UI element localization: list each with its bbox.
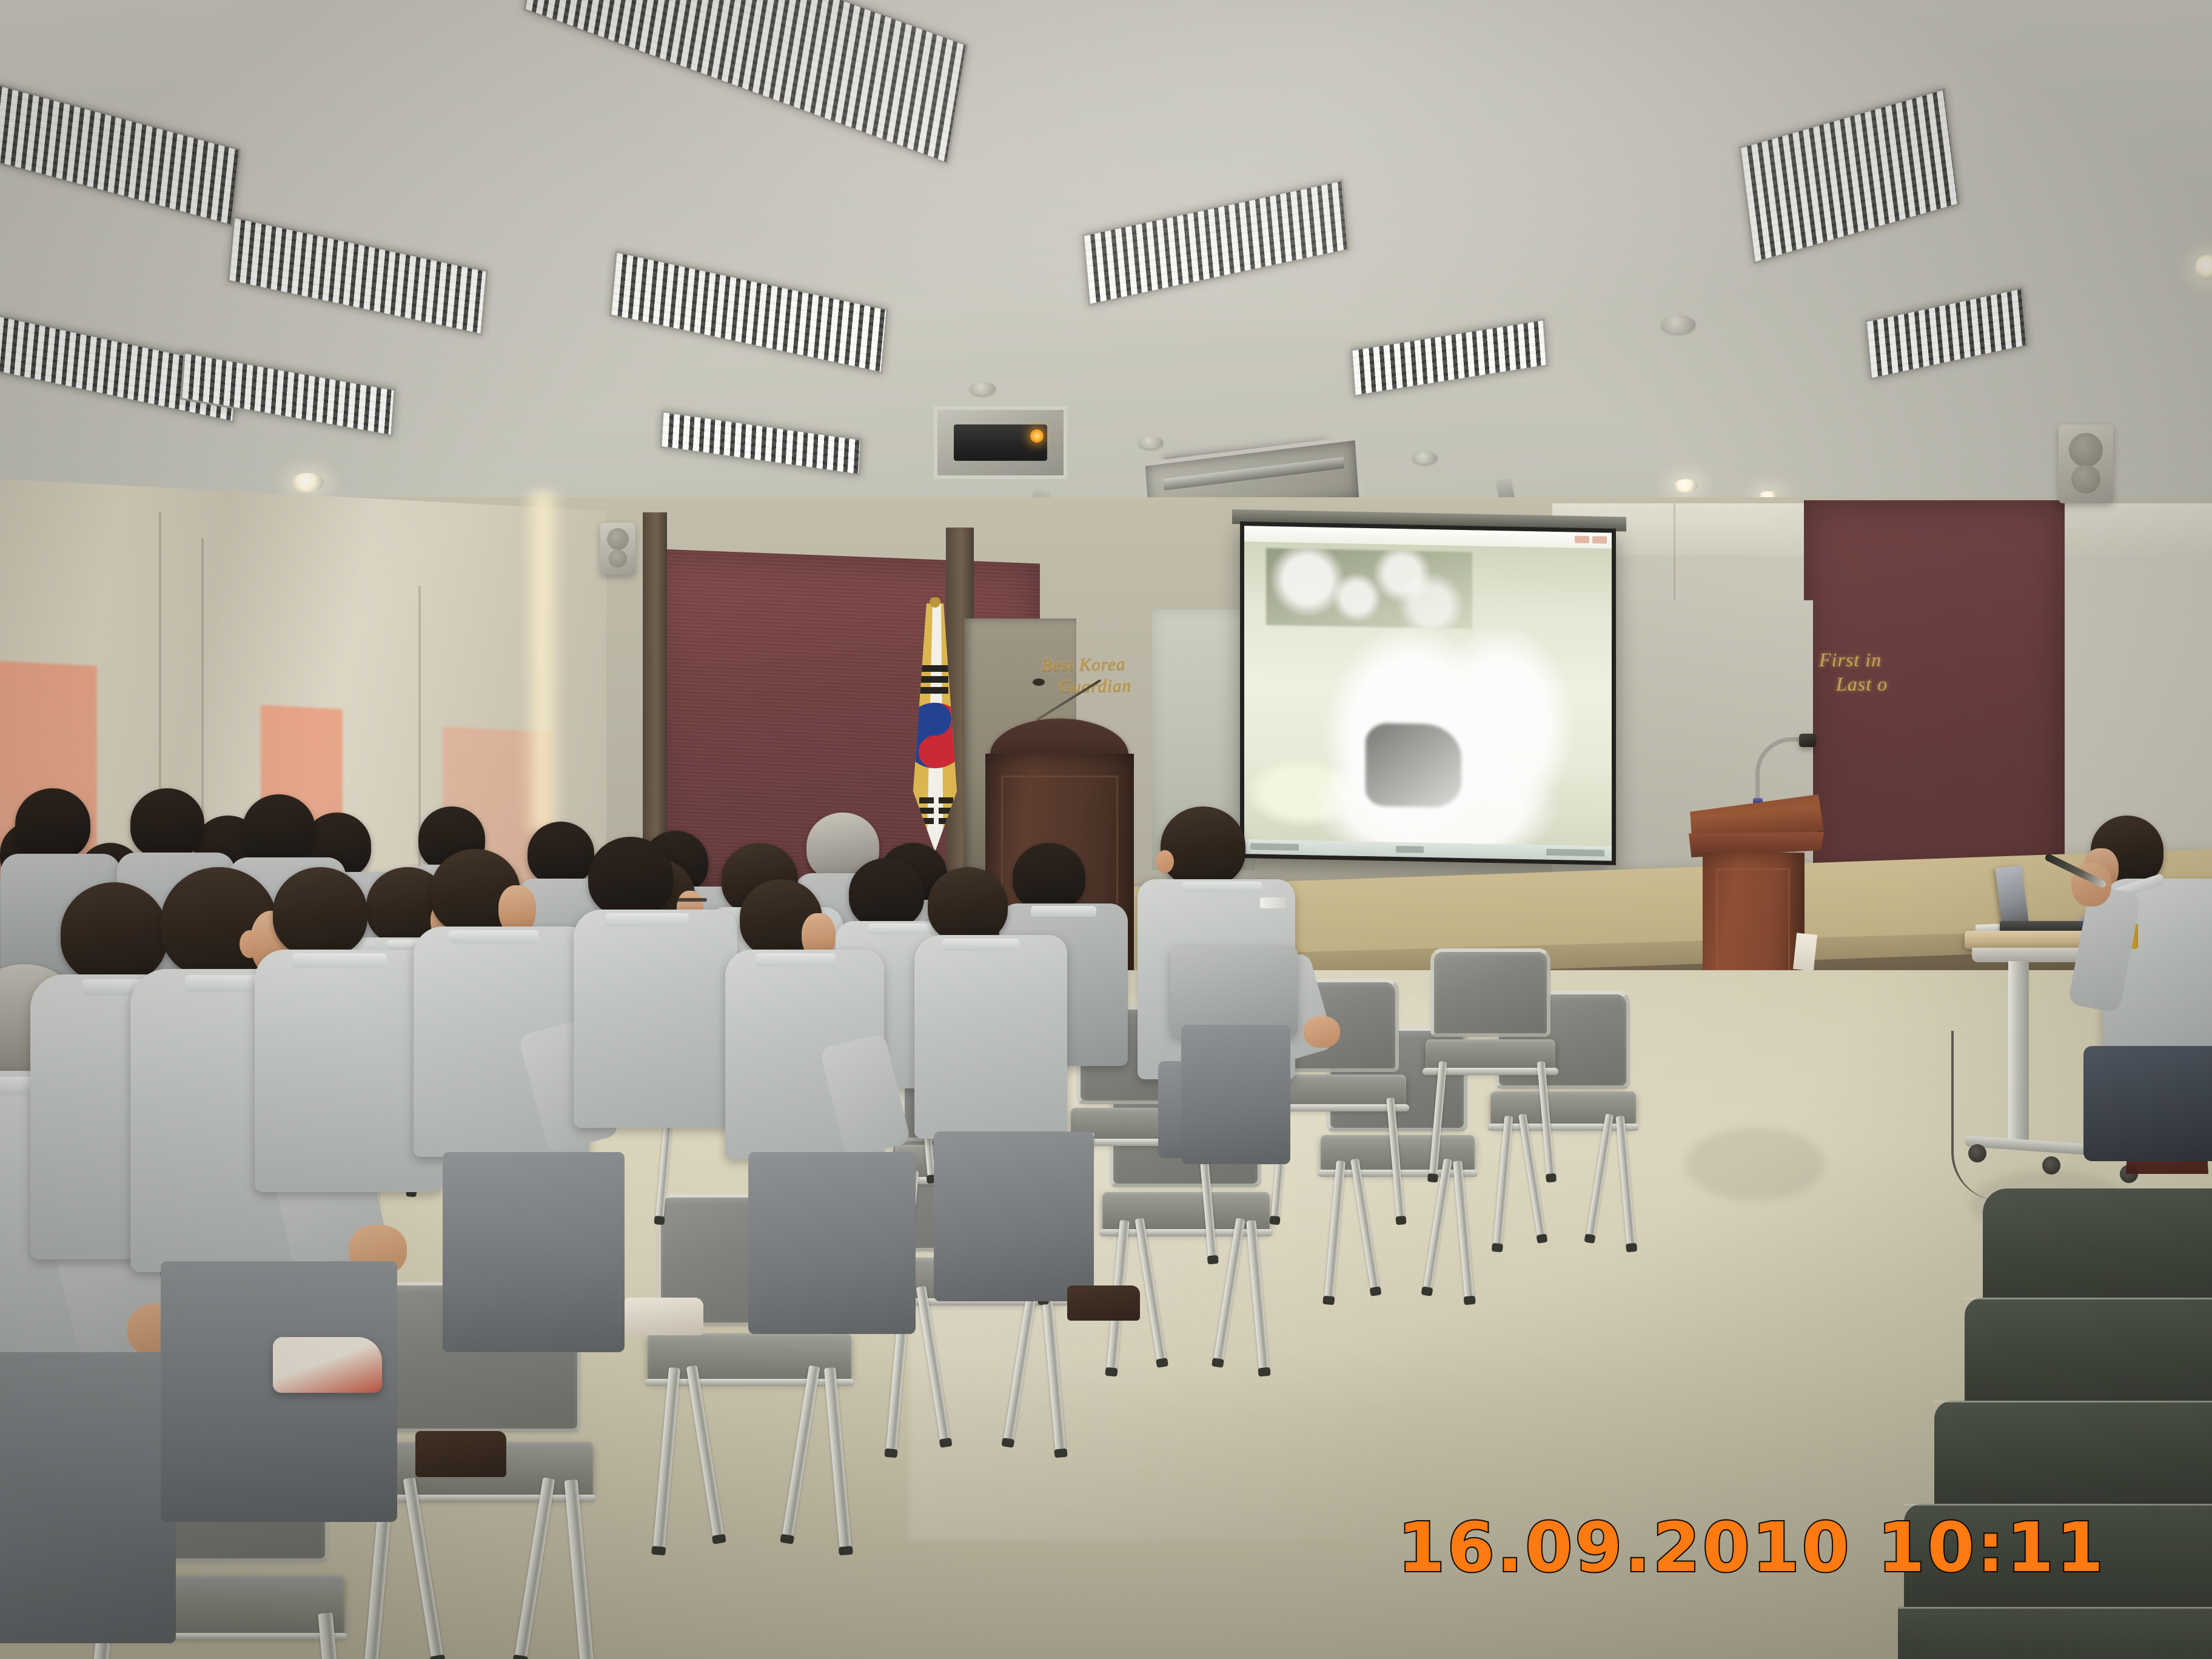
microphone-head <box>1799 734 1816 747</box>
cart-caster <box>1968 1144 1986 1162</box>
recessed-fluorescent-troffer <box>609 250 888 374</box>
light-louver-grid <box>1867 289 2026 378</box>
wall-speaker <box>2059 424 2113 503</box>
head <box>849 858 924 928</box>
trousers <box>0 1352 176 1643</box>
shirt-collar <box>1031 906 1096 917</box>
shirt-collar <box>756 953 836 967</box>
ear <box>240 930 260 958</box>
projector-body <box>954 424 1047 461</box>
ceiling-projector-in-cage <box>934 406 1067 479</box>
hand <box>1304 1016 1340 1048</box>
chair-leg <box>1429 1061 1447 1176</box>
close-icon[interactable] <box>1592 536 1607 543</box>
speaker-driver <box>607 528 629 550</box>
light-louver-grid <box>1166 442 1326 484</box>
projection-screen[interactable] <box>1240 521 1616 865</box>
shoe <box>415 1431 506 1477</box>
chair-leg <box>403 1477 444 1658</box>
minimize-icon[interactable] <box>1575 536 1589 543</box>
light-louver-grid <box>662 412 860 474</box>
ear <box>1156 850 1174 873</box>
smoke-detector <box>1413 452 1437 464</box>
camera-datestamp: 16.09.2010 10:11 <box>1398 1509 2106 1587</box>
light-louver-grid <box>229 218 486 333</box>
smoke-detector <box>1661 315 1695 333</box>
shirt-collar <box>1182 882 1262 893</box>
stair-tread <box>1983 1188 2212 1304</box>
speaker-driver <box>2069 433 2103 467</box>
lectern-microphone[interactable] <box>1755 736 1834 800</box>
window-controls[interactable] <box>1575 536 1607 544</box>
light-louver-grid <box>526 0 966 162</box>
head <box>243 794 315 863</box>
chair-back <box>1434 952 1547 1033</box>
chair-leg <box>515 1477 555 1658</box>
chair-leg <box>1386 1098 1404 1219</box>
wall-speaker <box>600 523 635 575</box>
stair-tread <box>1934 1401 2212 1510</box>
projector-cage-frame <box>934 406 1067 479</box>
light-louver-grid <box>1084 181 1347 304</box>
recessed-fluorescent-troffer <box>0 79 241 227</box>
auditorium-photograph: Best Korea Guardian First in Last o <box>0 0 2212 1659</box>
trousers <box>748 1152 916 1334</box>
chair-leg <box>782 1365 820 1538</box>
head <box>130 788 204 859</box>
wall-motto-right-line1: First in <box>1819 649 1882 671</box>
recessed-fluorescent-troffer <box>1739 88 1960 264</box>
recessed-fluorescent-troffer <box>1082 179 1349 306</box>
torso <box>914 935 1067 1139</box>
shirt-collar <box>292 953 387 968</box>
wall-wash-light <box>521 491 564 831</box>
floor-reflection <box>1686 1128 1825 1201</box>
chair-leg <box>1041 1288 1065 1452</box>
light-louver-grid <box>1741 90 1958 262</box>
taskbar-item[interactable] <box>1250 843 1299 851</box>
speaker-driver <box>2071 464 2100 494</box>
recessed-fluorescent-troffer <box>523 0 968 164</box>
wall-motto-right: First in Last o <box>1819 648 1888 696</box>
projected-video-frame <box>1244 541 1612 846</box>
stair-nosing <box>1904 1504 2212 1506</box>
recessed-fluorescent-troffer <box>1350 318 1548 397</box>
head <box>928 867 1008 942</box>
gooseneck-mic-arm <box>1755 737 1803 800</box>
shirt-collar <box>868 923 935 934</box>
wall-motto-right-line2: Last o <box>1836 672 1888 696</box>
chair-leg <box>1616 1116 1636 1246</box>
eyeglasses <box>674 898 707 902</box>
chair-leg <box>916 1285 950 1441</box>
head <box>588 837 673 917</box>
stair-nosing <box>1934 1401 2212 1403</box>
recessed-fluorescent-troffer <box>660 411 862 476</box>
light-louver-grid <box>0 317 237 421</box>
wall-motto-left-line1: Best Korea <box>1041 654 1125 675</box>
light-louver-grid <box>1352 321 1546 395</box>
ceiling <box>0 0 2212 546</box>
chair-leg <box>1246 1220 1269 1370</box>
shoe <box>1067 1285 1140 1321</box>
chair-leg <box>686 1365 725 1538</box>
recessed-fluorescent-troffer <box>227 216 488 335</box>
chair-leg <box>1586 1113 1614 1238</box>
stair-nosing <box>1965 1298 2212 1299</box>
smoke-detector <box>1139 437 1163 449</box>
speaker-driver <box>609 549 627 568</box>
paper-note <box>1793 933 1817 971</box>
chair-leg <box>565 1480 594 1659</box>
head <box>273 867 367 957</box>
downlight <box>2195 255 2212 280</box>
korean-flag <box>868 597 1002 888</box>
light-louver-grid <box>0 81 239 224</box>
trousers <box>443 1152 625 1352</box>
shirt-collar <box>449 930 538 943</box>
head <box>15 788 90 860</box>
stair-nosing <box>1898 1607 2212 1609</box>
cart-column <box>2008 961 2029 1143</box>
microphone-head <box>1033 679 1045 686</box>
folding-chair[interactable] <box>1422 952 1564 1182</box>
stair-tread <box>1898 1607 2212 1659</box>
taskbar-tray[interactable] <box>1546 849 1604 857</box>
recessed-fluorescent-troffer <box>1164 440 1328 486</box>
shirt-collar <box>942 939 1020 951</box>
projection-surface <box>1244 526 1612 861</box>
light-louver-grid <box>182 354 394 435</box>
head <box>1161 806 1245 886</box>
torso <box>574 910 737 1128</box>
smoke-detector <box>970 382 996 395</box>
projector-status-led <box>1030 429 1044 443</box>
shoe <box>625 1298 703 1335</box>
taskbar-item[interactable] <box>1396 846 1424 853</box>
trousers <box>1181 1025 1290 1164</box>
recessed-fluorescent-troffer <box>0 314 239 423</box>
downlight <box>291 473 324 492</box>
shirt-collar <box>605 913 689 927</box>
chair-leg <box>1004 1285 1037 1441</box>
light-louver-grid <box>611 253 886 372</box>
chair-leg <box>653 1367 680 1550</box>
gym-shoe-on-floor <box>273 1337 382 1393</box>
cart-caster <box>2042 1156 2060 1175</box>
head <box>61 882 167 983</box>
torso <box>1170 946 1298 1037</box>
chair-leg <box>1537 1061 1555 1176</box>
stair-tread <box>1965 1298 2212 1407</box>
uniform-insignia <box>1260 897 1287 908</box>
trousers <box>2083 1046 2212 1161</box>
trousers <box>934 1131 1094 1301</box>
chair-leg <box>824 1367 851 1550</box>
recessed-fluorescent-troffer <box>180 352 396 437</box>
recessed-fluorescent-troffer <box>1865 287 2028 380</box>
stair-risers <box>1898 1188 2212 1659</box>
head <box>528 822 594 885</box>
head <box>1013 843 1085 911</box>
downlight <box>1674 479 1698 492</box>
podium-microphone[interactable] <box>1037 680 1109 722</box>
